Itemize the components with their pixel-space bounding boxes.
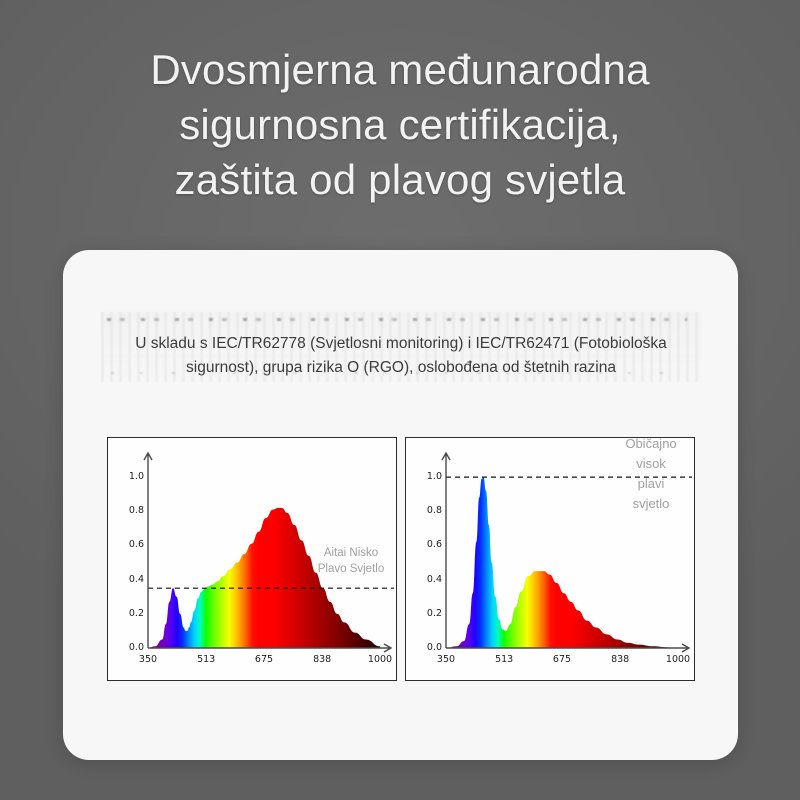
spectrum-charts-row: 0.00.20.40.60.81.03505136758381000 Aitai… [107, 437, 695, 681]
y-axis-tick-label: 0.4 [118, 574, 144, 585]
y-axis-tick-label: 0.6 [118, 539, 144, 550]
y-axis-tick-label: 0.8 [118, 505, 144, 516]
chart-high-blue-light-canvas: 0.00.20.40.60.81.03505136758381000 [406, 438, 694, 680]
chart-high-blue-light: 0.00.20.40.60.81.03505136758381000 Običa… [405, 437, 695, 681]
x-axis-tick-label: 838 [302, 654, 342, 665]
y-axis-tick-label: 0.4 [416, 574, 442, 585]
certification-subtitle: U skladu s IEC/TR62778 (Svjetlosni monit… [101, 332, 701, 380]
content-card: U skladu s IEC/TR62778 (Svjetlosni monit… [63, 250, 738, 760]
x-axis-tick-label: 838 [600, 654, 640, 665]
y-axis-tick-label: 1.0 [118, 471, 144, 482]
x-axis-tick-label: 1000 [360, 654, 400, 665]
x-axis-tick-label: 350 [128, 654, 168, 665]
spectrum-area [148, 508, 380, 648]
y-axis-tick-label: 0.0 [416, 642, 442, 653]
spectrum-area [446, 477, 678, 648]
spectrum-plot [406, 438, 696, 682]
y-axis-tick-label: 0.8 [416, 505, 442, 516]
page-title: Dvosmjerna međunarodna sigurnosna certif… [0, 42, 800, 207]
chart-low-blue-light-canvas: 0.00.20.40.60.81.03505136758381000 [108, 438, 396, 680]
chart-low-blue-light: 0.00.20.40.60.81.03505136758381000 Aitai… [107, 437, 397, 681]
y-axis-tick-label: 0.2 [118, 608, 144, 619]
spectrum-plot [108, 438, 398, 682]
x-axis-tick-label: 675 [542, 654, 582, 665]
x-axis-tick-label: 513 [186, 654, 226, 665]
y-axis-tick-label: 0.2 [416, 608, 442, 619]
y-axis-tick-label: 0.6 [416, 539, 442, 550]
x-axis-tick-label: 675 [244, 654, 284, 665]
page-root: Dvosmjerna međunarodna sigurnosna certif… [0, 0, 800, 800]
x-axis-tick-label: 1000 [658, 654, 698, 665]
y-axis-tick-label: 1.0 [416, 471, 442, 482]
y-axis-tick-label: 0.0 [118, 642, 144, 653]
x-axis-tick-label: 350 [426, 654, 466, 665]
x-axis-tick-label: 513 [484, 654, 524, 665]
